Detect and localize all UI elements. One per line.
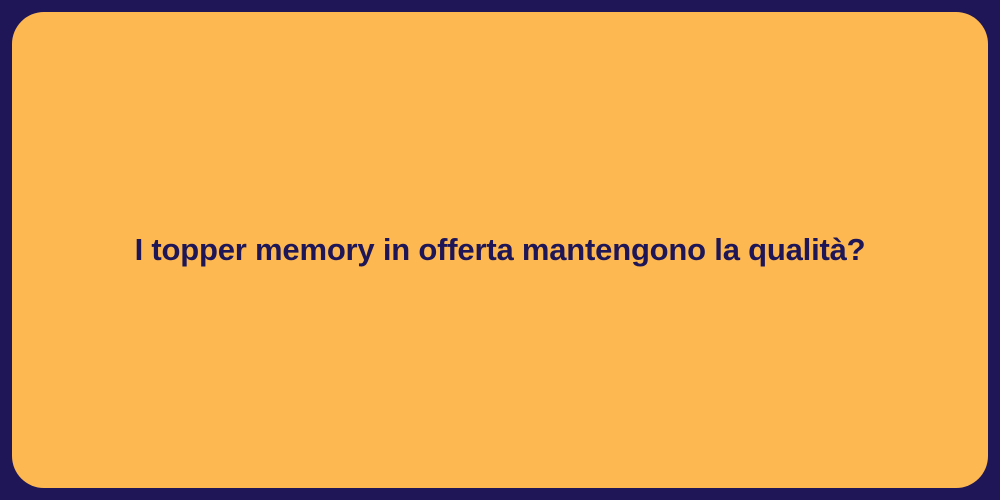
headline-text: I topper memory in offerta mantengono la…	[95, 231, 906, 270]
banner-panel: I topper memory in offerta mantengono la…	[12, 12, 988, 488]
banner-frame: I topper memory in offerta mantengono la…	[0, 0, 1000, 500]
